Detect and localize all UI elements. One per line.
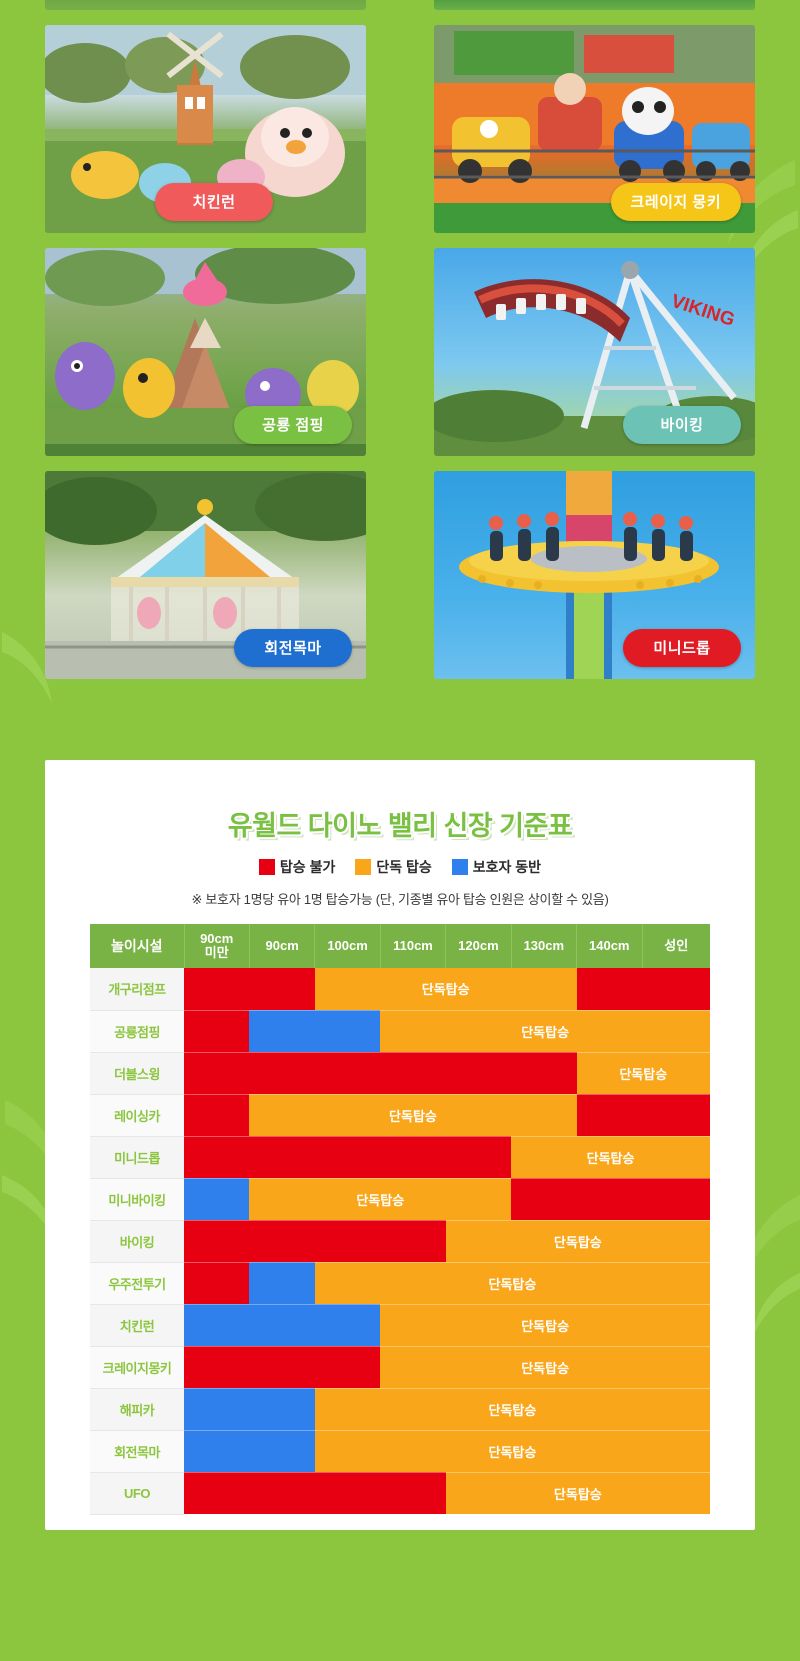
row-label-해피카: 해피카	[90, 1388, 184, 1430]
legend-label: 보호자 동반	[473, 857, 541, 877]
photo-badge: 회전목마	[234, 629, 352, 667]
photo-card-ufo[interactable]	[434, 0, 755, 10]
photo-card-dinosaur-jumping[interactable]: 공룡 점핑	[45, 248, 366, 456]
row-label-우주전투기: 우주전투기	[90, 1262, 184, 1304]
cell-alone: 단독탑승	[380, 1304, 710, 1346]
photo-card-double-swing[interactable]	[45, 0, 366, 10]
table-row: 공룡점핑단독탑승	[90, 1010, 710, 1052]
height-requirement-table: 놀이시설90cm미만90cm100cm110cm120cm130cm140cm성…	[90, 924, 710, 1515]
ride-photo	[434, 0, 755, 10]
photo-badge: 공룡 점핑	[234, 406, 352, 444]
legend-item-no-ride: 탑승 불가	[259, 857, 335, 877]
photo-card-crazy-monkey[interactable]: 크레이지 몽키	[434, 25, 755, 233]
row-label-치킨런: 치킨런	[90, 1304, 184, 1346]
cell-guardian	[184, 1178, 249, 1220]
height-chart-card: 유월드 다이노 밸리 신장 기준표 탑승 불가 단독 탑승 보호자 동반 ※ 보…	[45, 760, 755, 1530]
photo-card-carousel[interactable]: 회전목마	[45, 471, 366, 679]
column-header-adult: 성인	[642, 924, 710, 968]
column-header-height-6: 140cm	[577, 924, 642, 968]
cell-alone: 단독탑승	[380, 1346, 710, 1388]
legend-swatch-orange	[355, 859, 371, 875]
row-label-미니드롭: 미니드롭	[90, 1136, 184, 1178]
cell-no_ride	[511, 1178, 710, 1220]
photo-gallery: 치킨런	[45, 0, 755, 679]
cell-no_ride	[184, 1262, 249, 1304]
cell-alone: 단독탑승	[315, 1388, 710, 1430]
cell-alone: 단독탑승	[315, 1430, 710, 1472]
cell-guardian	[249, 1262, 314, 1304]
table-row: 레이싱카단독탑승	[90, 1094, 710, 1136]
photo-card-viking[interactable]: VIKING 바이킹	[434, 248, 755, 456]
chart-legend: 탑승 불가 단독 탑승 보호자 동반	[45, 857, 755, 877]
column-header-height-4: 120cm	[446, 924, 511, 968]
cell-no_ride	[184, 968, 315, 1010]
ride-photo	[45, 0, 366, 10]
cell-no_ride	[184, 1472, 446, 1514]
column-header-height-5: 130cm	[511, 924, 576, 968]
legend-item-alone: 단독 탑승	[355, 857, 431, 877]
cell-alone: 단독탑승	[446, 1472, 710, 1514]
table-row: 회전목마단독탑승	[90, 1430, 710, 1472]
row-label-크레이지몽키: 크레이지몽키	[90, 1346, 184, 1388]
cell-no_ride	[184, 1346, 380, 1388]
chart-title: 유월드 다이노 밸리 신장 기준표	[45, 804, 755, 843]
column-header-height-2: 100cm	[315, 924, 380, 968]
table-row: 해피카단독탑승	[90, 1388, 710, 1430]
cell-no_ride	[577, 1094, 710, 1136]
table-row: 미니바이킹단독탑승	[90, 1178, 710, 1220]
column-header-height-0: 90cm미만	[184, 924, 249, 968]
table-row: 우주전투기단독탑승	[90, 1262, 710, 1304]
photo-card-mini-drop[interactable]: 미니드롭	[434, 471, 755, 679]
row-label-바이킹: 바이킹	[90, 1220, 184, 1262]
cell-guardian	[184, 1388, 315, 1430]
legend-label: 탑승 불가	[280, 857, 335, 877]
table-body: 개구리점프단독탑승공룡점핑단독탑승더블스윙단독탑승레이싱카단독탑승미니드롭단독탑…	[90, 968, 710, 1514]
row-label-회전목마: 회전목마	[90, 1430, 184, 1472]
legend-swatch-blue	[452, 859, 468, 875]
table-row: 크레이지몽키단독탑승	[90, 1346, 710, 1388]
table-header: 놀이시설90cm미만90cm100cm110cm120cm130cm140cm성…	[90, 924, 710, 968]
column-header-facility: 놀이시설	[90, 924, 184, 968]
cell-guardian	[184, 1430, 315, 1472]
row-label-미니바이킹: 미니바이킹	[90, 1178, 184, 1220]
photo-badge: 크레이지 몽키	[611, 183, 741, 221]
cell-guardian	[184, 1304, 380, 1346]
row-label-레이싱카: 레이싱카	[90, 1094, 184, 1136]
table-header-row: 놀이시설90cm미만90cm100cm110cm120cm130cm140cm성…	[90, 924, 710, 968]
legend-swatch-red	[259, 859, 275, 875]
table-row: 미니드롭단독탑승	[90, 1136, 710, 1178]
cell-alone: 단독탑승	[315, 968, 577, 1010]
table-row: 개구리점프단독탑승	[90, 968, 710, 1010]
cell-alone: 단독탑승	[511, 1136, 710, 1178]
cell-no_ride	[184, 1136, 511, 1178]
cell-no_ride	[184, 1094, 249, 1136]
table-row: 바이킹단독탑승	[90, 1220, 710, 1262]
table-row: 더블스윙단독탑승	[90, 1052, 710, 1094]
column-header-height-3: 110cm	[380, 924, 445, 968]
cell-alone: 단독탑승	[315, 1262, 710, 1304]
photo-badge: 바이킹	[623, 406, 741, 444]
cell-no_ride	[184, 1052, 577, 1094]
cell-alone: 단독탑승	[577, 1052, 710, 1094]
legend-item-guardian: 보호자 동반	[452, 857, 541, 877]
column-header-height-1: 90cm	[249, 924, 314, 968]
photo-badge: 치킨런	[155, 183, 273, 221]
row-label-개구리점프: 개구리점프	[90, 968, 184, 1010]
row-label-UFO: UFO	[90, 1472, 184, 1514]
cell-guardian	[249, 1010, 380, 1052]
table-row: 치킨런단독탑승	[90, 1304, 710, 1346]
cell-no_ride	[184, 1220, 446, 1262]
table-row: UFO단독탑승	[90, 1472, 710, 1514]
cell-no_ride	[577, 968, 710, 1010]
row-label-더블스윙: 더블스윙	[90, 1052, 184, 1094]
row-label-공룡점핑: 공룡점핑	[90, 1010, 184, 1052]
cell-no_ride	[184, 1010, 249, 1052]
chart-note: ※ 보호자 1명당 유아 1명 탑승가능 (단, 기종별 유아 탑승 인원은 상…	[45, 889, 755, 908]
cell-alone: 단독탑승	[249, 1178, 511, 1220]
cell-alone: 단독탑승	[380, 1010, 710, 1052]
cell-alone: 단독탑승	[249, 1094, 576, 1136]
legend-label: 단독 탑승	[376, 857, 431, 877]
photo-badge: 미니드롭	[623, 629, 741, 667]
photo-card-chicken-run[interactable]: 치킨런	[45, 25, 366, 233]
cell-alone: 단독탑승	[446, 1220, 710, 1262]
